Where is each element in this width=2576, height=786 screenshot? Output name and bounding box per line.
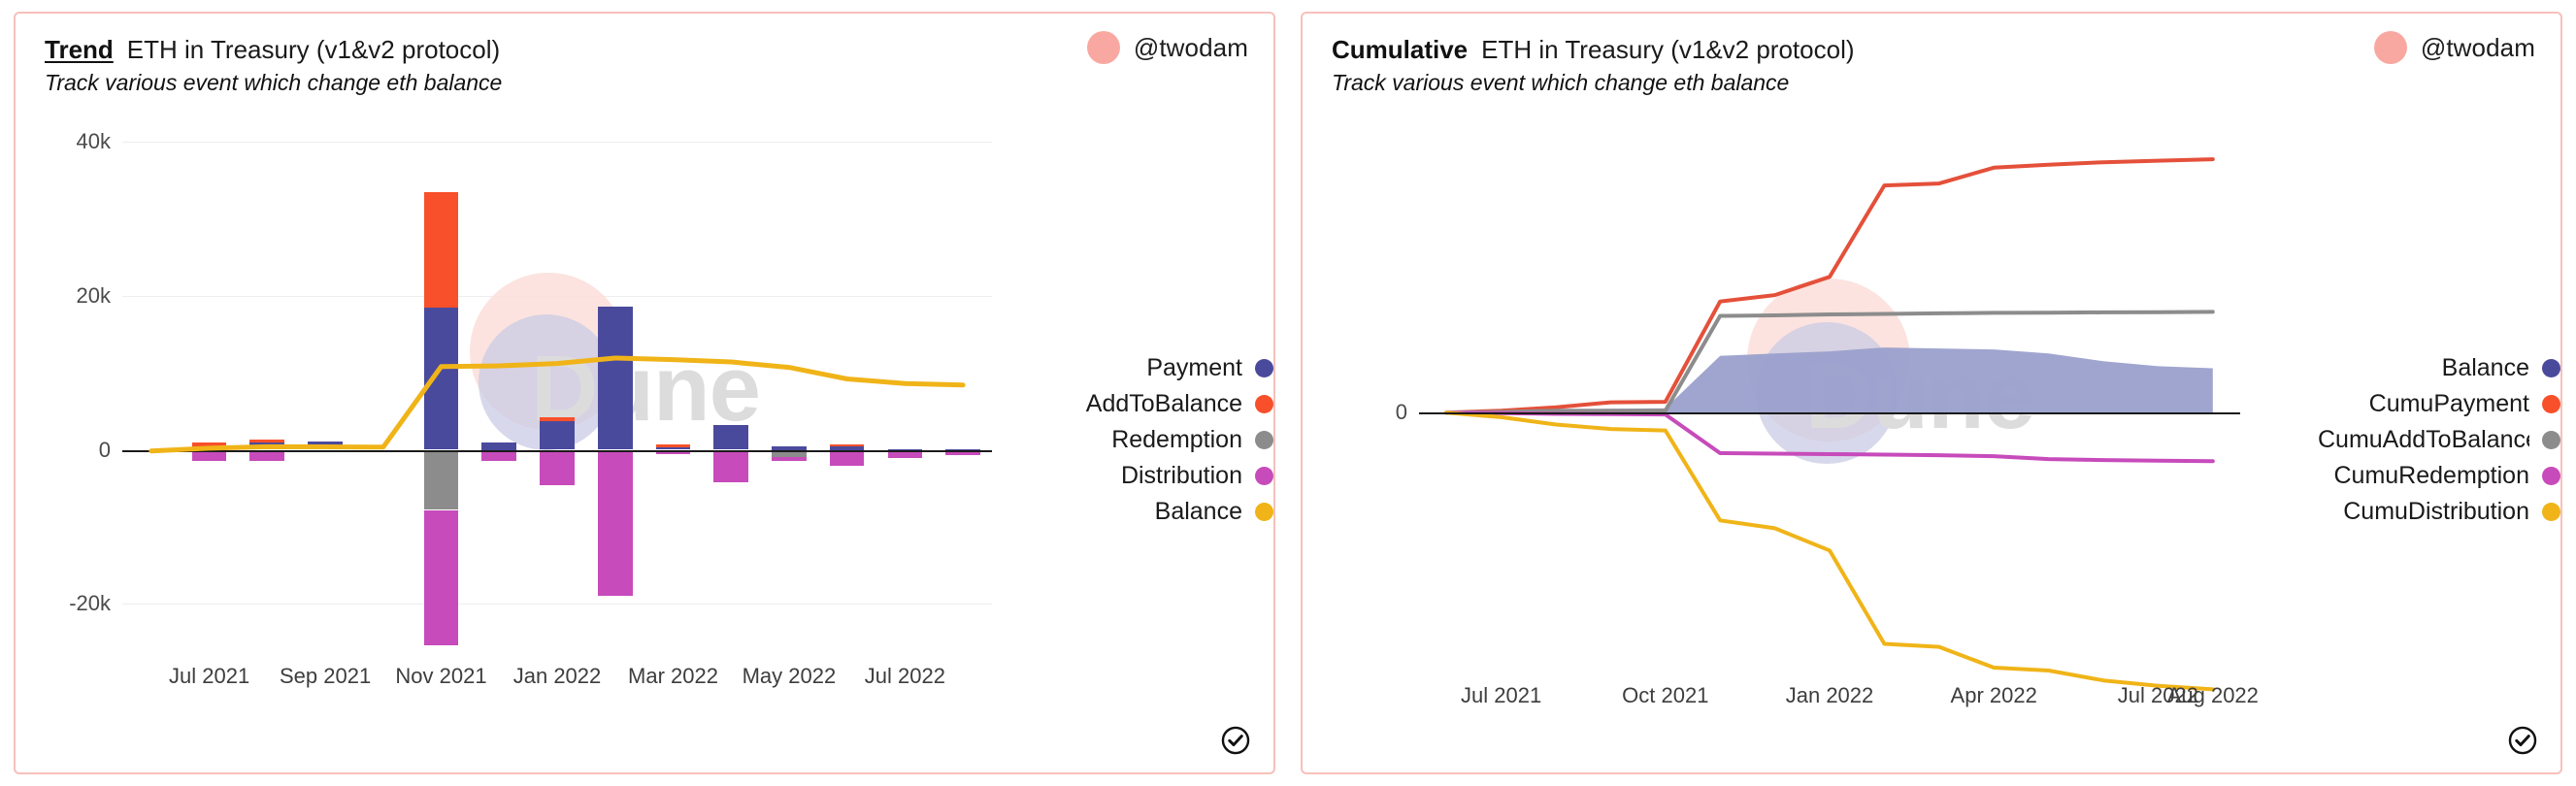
- legend-color-dot: [1255, 359, 1273, 377]
- legend-color-dot: [1255, 503, 1273, 521]
- x-axis-tick-label: Jul 2021: [1461, 683, 1541, 708]
- legend-item-label: Balance: [1155, 498, 1242, 526]
- chart-legend-trend[interactable]: Payment AddToBalance Redemption Distribu…: [1021, 107, 1273, 772]
- legend-item[interactable]: Distribution: [1121, 458, 1273, 494]
- legend-item[interactable]: CumuDistribution: [2343, 494, 2560, 530]
- legend-item[interactable]: Payment: [1146, 350, 1273, 386]
- series-line-balance[interactable]: [122, 126, 992, 650]
- legend-color-dot: [1255, 431, 1273, 449]
- legend-color-dot: [2542, 431, 2560, 449]
- chart-area-cumulative[interactable]: 0 Dune Jul 2021Oct 2021Jan 2022Apr 2022J…: [1303, 107, 2560, 772]
- legend-color-dot: [1255, 395, 1273, 413]
- panel-trend[interactable]: Trend ETH in Treasury (v1&v2 protocol) T…: [14, 12, 1275, 774]
- legend-item-label: Payment: [1146, 354, 1242, 382]
- y-axis-tick-label: 0: [99, 438, 111, 463]
- legend-item-label: Distribution: [1121, 462, 1242, 490]
- legend-color-dot: [2542, 467, 2560, 485]
- chart-area-trend[interactable]: 40k20k0-20k Dune Jul 2021Sep 2021Nov 202…: [16, 107, 1273, 772]
- panel-subtitle: Track various event which change eth bal…: [45, 70, 502, 96]
- panel-cumulative[interactable]: Cumulative ETH in Treasury (v1&v2 protoc…: [1301, 12, 2562, 774]
- legend-color-dot: [2542, 503, 2560, 521]
- y-axis-tick-label: 40k: [77, 129, 111, 154]
- x-axis-tick-label: Aug 2022: [2167, 683, 2259, 708]
- author-handle[interactable]: @twodam: [2421, 33, 2535, 63]
- plot-canvas-trend[interactable]: 40k20k0-20k Dune Jul 2021Sep 2021Nov 202…: [122, 126, 992, 650]
- legend-item-label: CumuDistribution: [2343, 498, 2529, 526]
- legend-item-label: CumuAddToBalance: [2318, 426, 2529, 454]
- panel-kind-label[interactable]: Cumulative: [1332, 35, 1468, 65]
- x-axis-tick-label: Jan 2022: [513, 664, 602, 689]
- check-circle-icon[interactable]: [1219, 724, 1252, 757]
- legend-item-label: Balance: [2442, 354, 2529, 382]
- zero-axis-line: [1419, 412, 2240, 414]
- x-axis-tick-label: Jul 2021: [169, 664, 249, 689]
- legend-item[interactable]: AddToBalance: [1086, 386, 1273, 422]
- x-axis-tick-label: Jul 2022: [865, 664, 945, 689]
- legend-item-label: AddToBalance: [1086, 390, 1242, 418]
- panel-title: ETH in Treasury (v1&v2 protocol): [1481, 35, 1854, 65]
- dashboard-board: Trend ETH in Treasury (v1&v2 protocol) T…: [0, 0, 2576, 786]
- avatar: [2374, 31, 2407, 64]
- legend-item-label: Redemption: [1111, 426, 1242, 454]
- legend-item-label: CumuRedemption: [2334, 462, 2530, 490]
- panel-kind-label[interactable]: Trend: [45, 35, 114, 65]
- legend-color-dot: [2542, 395, 2560, 413]
- legend-item[interactable]: CumuPayment: [2369, 386, 2560, 422]
- author-badge[interactable]: @twodam: [2374, 31, 2535, 64]
- y-axis-tick-label: 20k: [77, 283, 111, 309]
- panel-header-cumulative: Cumulative ETH in Treasury (v1&v2 protoc…: [1303, 14, 2560, 107]
- chart-legend-cumulative[interactable]: Balance CumuPayment CumuAddToBalance Cum…: [2269, 107, 2560, 772]
- legend-item[interactable]: Redemption: [1111, 422, 1273, 458]
- panel-header-trend: Trend ETH in Treasury (v1&v2 protocol) T…: [16, 14, 1273, 107]
- y-axis-tick-label: -20k: [69, 591, 111, 616]
- x-axis-tick-label: Jan 2022: [1786, 683, 1874, 708]
- author-badge[interactable]: @twodam: [1087, 31, 1248, 64]
- plot-canvas-cumulative[interactable]: 0 Dune Jul 2021Oct 2021Jan 2022Apr 2022J…: [1419, 126, 2240, 670]
- x-axis-tick-label: Apr 2022: [1951, 683, 2037, 708]
- x-axis-tick-label: Nov 2021: [395, 664, 486, 689]
- legend-item-label: CumuPayment: [2369, 390, 2529, 418]
- panel-title-row: Trend ETH in Treasury (v1&v2 protocol): [45, 35, 500, 65]
- series-line-cumudistribution[interactable]: [1419, 126, 2240, 670]
- y-axis-tick-label: 0: [1396, 400, 1407, 425]
- panel-title: ETH in Treasury (v1&v2 protocol): [127, 35, 500, 65]
- legend-item[interactable]: Balance: [2442, 350, 2560, 386]
- x-axis-tick-label: Oct 2021: [1622, 683, 1708, 708]
- avatar: [1087, 31, 1120, 64]
- panel-subtitle: Track various event which change eth bal…: [1332, 70, 1789, 96]
- legend-item[interactable]: Balance: [1155, 494, 1273, 530]
- legend-color-dot: [1255, 467, 1273, 485]
- x-axis-tick-label: Mar 2022: [628, 664, 718, 689]
- check-circle-icon[interactable]: [2506, 724, 2539, 757]
- author-handle[interactable]: @twodam: [1134, 33, 1248, 63]
- x-axis-tick-label: Sep 2021: [280, 664, 371, 689]
- x-axis-tick-label: May 2022: [743, 664, 837, 689]
- legend-color-dot: [2542, 359, 2560, 377]
- legend-item[interactable]: CumuAddToBalance: [2318, 422, 2560, 458]
- panel-title-row: Cumulative ETH in Treasury (v1&v2 protoc…: [1332, 35, 1855, 65]
- legend-item[interactable]: CumuRedemption: [2334, 458, 2561, 494]
